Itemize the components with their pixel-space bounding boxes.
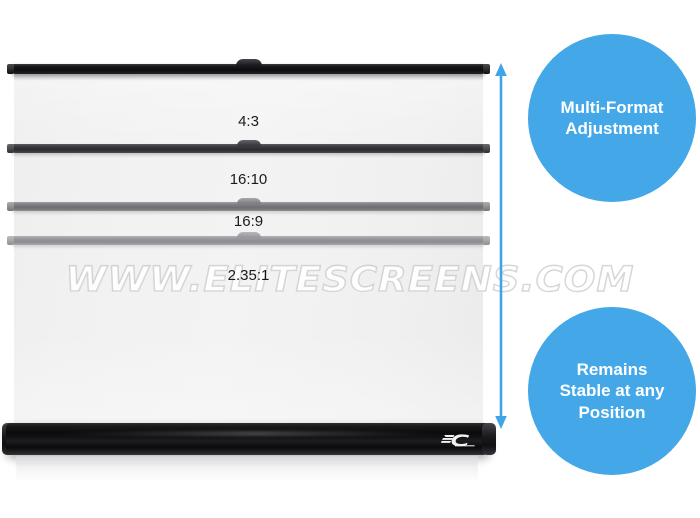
bar-end-cap-right bbox=[483, 64, 490, 74]
feature-circle-top-text: Multi-FormatAdjustment bbox=[553, 97, 672, 140]
bar-end-cap-right bbox=[483, 144, 490, 153]
feature-circle-bottom-text: RemainsStable at anyPosition bbox=[552, 359, 673, 423]
bar-end-cap-left bbox=[7, 236, 14, 245]
bar-end-cap-left bbox=[7, 144, 14, 153]
bar-end-cap-right bbox=[483, 202, 490, 211]
format-bar-16-10[interactable] bbox=[12, 144, 485, 153]
ratio-label-2-35-1: 2.35:1 bbox=[0, 267, 497, 284]
bar-handle-nub[interactable] bbox=[236, 59, 262, 66]
format-bar-16-9[interactable] bbox=[12, 202, 485, 211]
format-bar-2-35-1[interactable] bbox=[12, 236, 485, 245]
base-casing-highlight bbox=[45, 431, 452, 436]
bar-end-cap-right bbox=[483, 236, 490, 245]
format-bar-4-3[interactable] bbox=[12, 64, 485, 74]
screen-top-shadow bbox=[14, 74, 483, 81]
bar-handle-nub[interactable] bbox=[237, 198, 261, 204]
bar-handle-nub[interactable] bbox=[237, 232, 261, 238]
double-headed-vertical-arrow-icon bbox=[492, 62, 510, 430]
bar-end-cap-left bbox=[7, 202, 14, 211]
bar-handle-nub[interactable] bbox=[237, 140, 261, 146]
base-casing bbox=[6, 423, 490, 455]
ratio-label-4-3: 4:3 bbox=[0, 113, 497, 130]
ratio-label-16-10: 16:10 bbox=[0, 171, 497, 188]
ec-logo bbox=[441, 432, 475, 448]
product-illustration: WWW.ELITESCREENS.COM 4:3 16:10 16:9 2.35… bbox=[0, 0, 700, 518]
bar-end-cap-left bbox=[7, 64, 14, 74]
base-reflection bbox=[16, 456, 478, 482]
feature-circle-remains-stable: RemainsStable at anyPosition bbox=[528, 307, 696, 475]
ratio-label-16-9: 16:9 bbox=[0, 213, 497, 230]
feature-circle-multi-format-adjustment: Multi-FormatAdjustment bbox=[528, 34, 696, 202]
